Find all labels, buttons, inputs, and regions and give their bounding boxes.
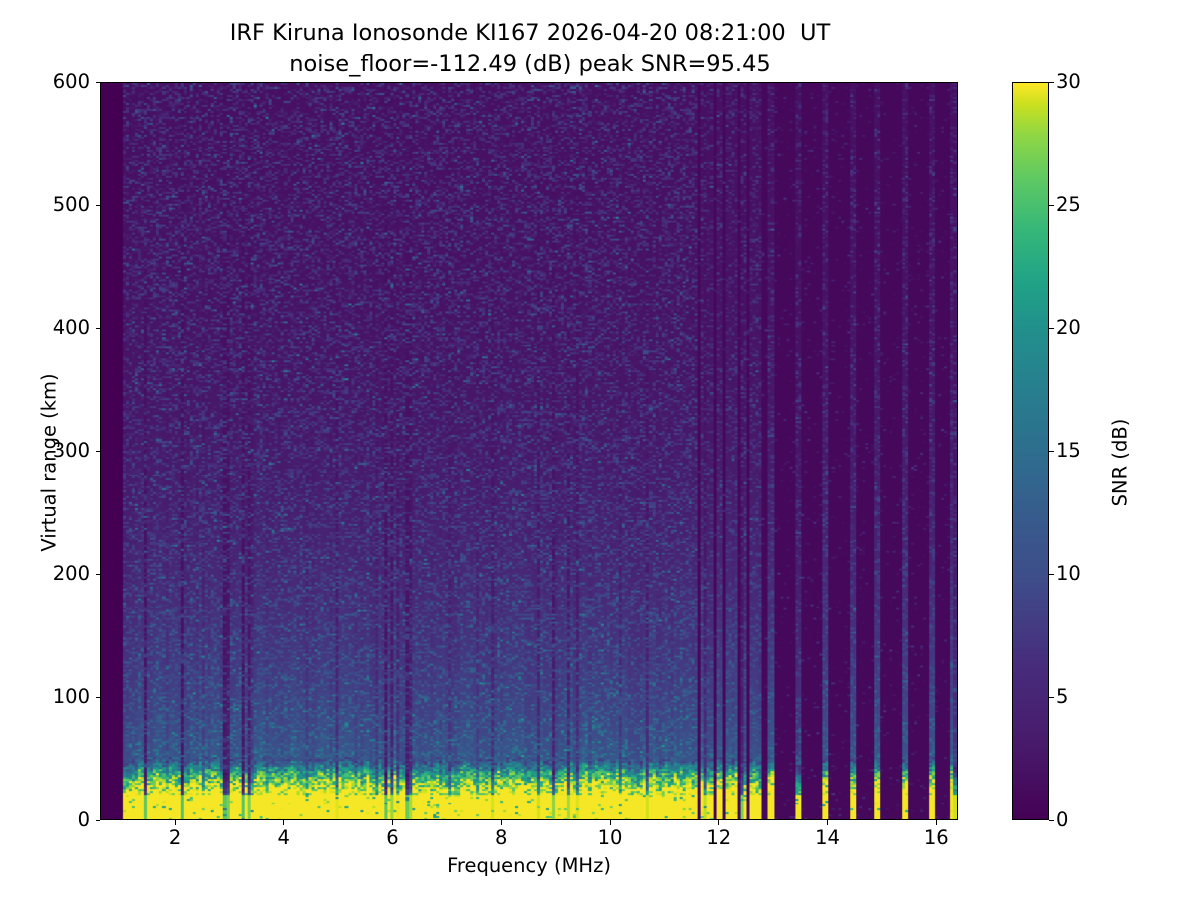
colorbar	[1012, 82, 1049, 820]
x-tick-mark	[175, 820, 176, 825]
x-tick-label: 2	[135, 828, 215, 848]
colorbar-tick-label: 15	[1056, 441, 1081, 461]
y-tick-mark	[96, 820, 101, 821]
y-tick-label: 600	[10, 72, 90, 92]
x-tick-label: 16	[896, 828, 976, 848]
y-tick-label: 100	[10, 687, 90, 707]
colorbar-tick-label: 20	[1056, 318, 1081, 338]
x-tick-mark	[501, 820, 502, 825]
x-tick-label: 10	[570, 828, 650, 848]
y-tick-mark	[96, 328, 101, 329]
x-tick-label: 6	[353, 828, 433, 848]
colorbar-tick-mark	[1049, 205, 1054, 206]
colorbar-tick-label: 10	[1056, 564, 1081, 584]
colorbar-tick-label: 30	[1056, 72, 1081, 92]
y-tick-mark	[96, 82, 101, 83]
colorbar-tick-mark	[1049, 574, 1054, 575]
plot-axes	[100, 82, 958, 820]
colorbar-tick-mark	[1049, 82, 1054, 83]
colorbar-tick-label: 5	[1056, 687, 1068, 707]
x-tick-label: 4	[244, 828, 324, 848]
colorbar-title: SNR (dB)	[1109, 333, 1132, 593]
colorbar-tick-mark	[1049, 328, 1054, 329]
x-axis-title: Frequency (MHz)	[100, 854, 958, 877]
colorbar-tick-mark	[1049, 697, 1054, 698]
x-tick-mark	[392, 820, 393, 825]
y-tick-label: 500	[10, 195, 90, 215]
y-axis-title: Virtual range (km)	[38, 333, 61, 593]
x-tick-label: 14	[788, 828, 868, 848]
colorbar-tick-label: 0	[1056, 810, 1068, 830]
y-tick-label: 0	[10, 810, 90, 830]
x-tick-mark	[610, 820, 611, 825]
y-tick-mark	[96, 451, 101, 452]
colorbar-tick-label: 25	[1056, 195, 1081, 215]
x-tick-mark	[827, 820, 828, 825]
ionogram-figure: IRF Kiruna Ionosonde KI167 2026-04-20 08…	[0, 0, 1200, 900]
colorbar-tick-mark	[1049, 451, 1054, 452]
x-tick-mark	[718, 820, 719, 825]
y-tick-mark	[96, 574, 101, 575]
figure-title-line-1: IRF Kiruna Ionosonde KI167 2026-04-20 08…	[0, 18, 1060, 49]
figure-title-line-2: noise_floor=-112.49 (dB) peak SNR=95.45	[0, 49, 1060, 80]
colorbar-tick-mark	[1049, 820, 1054, 821]
figure-title: IRF Kiruna Ionosonde KI167 2026-04-20 08…	[0, 18, 1060, 80]
x-tick-label: 12	[679, 828, 759, 848]
x-tick-mark	[936, 820, 937, 825]
x-tick-mark	[283, 820, 284, 825]
y-tick-mark	[96, 697, 101, 698]
x-tick-label: 8	[461, 828, 541, 848]
y-tick-mark	[96, 205, 101, 206]
ionogram-heatmap	[101, 83, 957, 819]
